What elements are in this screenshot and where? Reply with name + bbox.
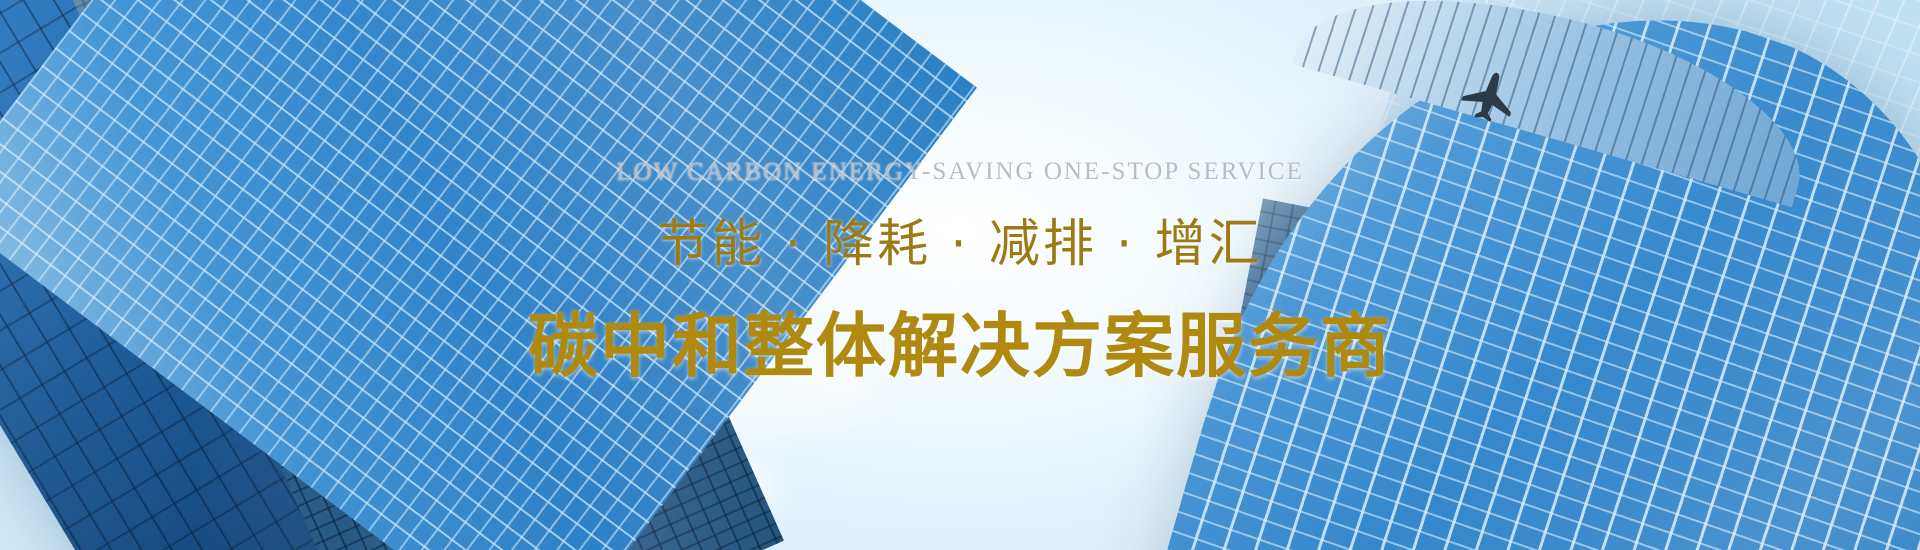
hero-banner: LOW CARBON ENERGY-SAVING ONE-STOP SERVIC… [0,0,1920,550]
